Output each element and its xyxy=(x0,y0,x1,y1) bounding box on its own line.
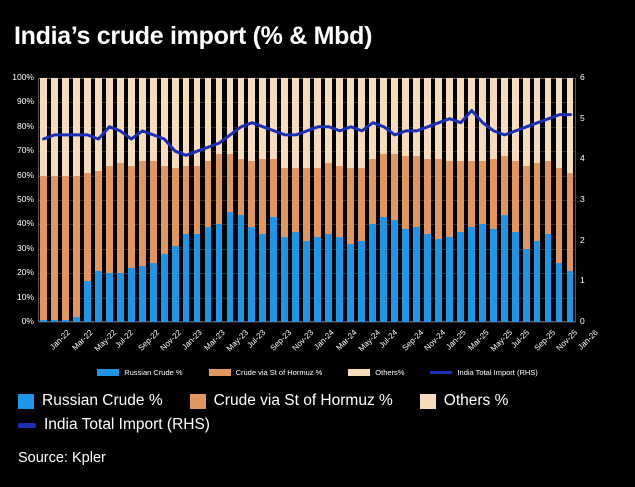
legend-label: India Total Import (RHS) xyxy=(44,416,210,434)
legend-item[interactable]: India Total Import (RHS) xyxy=(18,416,210,434)
x-tick-label: Nov-25 xyxy=(554,328,579,353)
y-tick-left: 40% xyxy=(0,219,34,228)
y-tick-right: 4 xyxy=(580,154,610,163)
inner-legend-label: India Total Import (RHS) xyxy=(457,368,537,377)
x-tick-label: Jan-23 xyxy=(180,328,204,352)
legend-swatch xyxy=(18,394,34,409)
y-tick-right: 5 xyxy=(580,114,610,123)
y-tick-left: 100% xyxy=(0,73,34,82)
x-tick-label: Jul-22 xyxy=(114,328,136,350)
y-tick-right: 6 xyxy=(580,73,610,82)
inner-legend-item[interactable]: Others% xyxy=(348,368,404,377)
x-tick-label: Sep-23 xyxy=(269,328,294,353)
legend-swatch xyxy=(348,369,370,376)
x-tick-label: May-25 xyxy=(488,328,513,353)
y-tick-left: 50% xyxy=(0,195,34,204)
x-tick-label: Sep-24 xyxy=(400,328,425,353)
x-tick-label: Mar-22 xyxy=(71,328,95,352)
y-tick-left: 70% xyxy=(0,146,34,155)
total-import-polyline xyxy=(44,111,571,156)
y-tick-right: 3 xyxy=(580,195,610,204)
x-tick-label: Mar-24 xyxy=(334,328,358,352)
inner-legend-label: Others% xyxy=(375,368,404,377)
chart-screenshot: India’s crude import (% & Mbd) 0%10%20%3… xyxy=(0,0,635,487)
inner-legend-label: Russian Crude % xyxy=(124,368,182,377)
x-tick-label: Nov-23 xyxy=(291,328,316,353)
plot-area xyxy=(38,78,576,322)
y-tick-right: 1 xyxy=(580,276,610,285)
x-tick-label: Nov-24 xyxy=(422,328,447,353)
inner-legend-item[interactable]: Crude via St of Hormuz % xyxy=(209,368,323,377)
x-tick-label: Nov-22 xyxy=(159,328,184,353)
x-tick-label: Jan-25 xyxy=(444,328,468,352)
x-tick-label: Jul-24 xyxy=(377,328,399,350)
inner-legend-item[interactable]: India Total Import (RHS) xyxy=(430,368,537,377)
legend-swatch xyxy=(420,394,436,409)
legend-item[interactable]: Russian Crude % xyxy=(18,392,163,410)
x-tick-label: Mar-25 xyxy=(466,328,490,352)
x-axis-labels: Jan-22Mar-22May-22Jul-22Sep-22Nov-22Jan-… xyxy=(38,324,576,374)
y-tick-left: 20% xyxy=(0,268,34,277)
chart-title: India’s crude import (% & Mbd) xyxy=(14,22,372,51)
legend-label: Others % xyxy=(444,392,509,410)
legend-label: Russian Crude % xyxy=(42,392,163,410)
chart-area: 0%10%20%30%40%50%60%70%80%90%100% 012345… xyxy=(0,72,635,330)
y-tick-right: 0 xyxy=(580,317,610,326)
y-tick-right: 2 xyxy=(580,236,610,245)
y-tick-left: 90% xyxy=(0,97,34,106)
x-tick-label: Jan-26 xyxy=(576,328,600,352)
y-tick-left: 60% xyxy=(0,171,34,180)
x-tick-label: Jan-24 xyxy=(312,328,336,352)
legend-label: Crude via St of Hormuz % xyxy=(214,392,393,410)
legend-swatch xyxy=(97,369,119,376)
legend-row-1: Russian Crude %Crude via St of Hormuz %O… xyxy=(18,392,618,410)
y-tick-left: 10% xyxy=(0,293,34,302)
inner-legend-label: Crude via St of Hormuz % xyxy=(236,368,323,377)
x-tick-label: May-24 xyxy=(357,328,382,353)
legend-item[interactable]: Crude via St of Hormuz % xyxy=(190,392,393,410)
y-tick-left: 0% xyxy=(0,317,34,326)
x-tick-label: Mar-23 xyxy=(203,328,227,352)
legend-line-marker xyxy=(18,423,36,428)
legend-line-marker xyxy=(430,371,452,374)
legend-item[interactable]: Others % xyxy=(420,392,509,410)
total-import-line-series xyxy=(38,78,576,322)
chart-outer-legend: Russian Crude %Crude via St of Hormuz %O… xyxy=(18,392,618,440)
chart-inner-legend: Russian Crude %Crude via St of Hormuz %O… xyxy=(0,368,635,377)
x-tick-label: Sep-25 xyxy=(532,328,557,353)
legend-row-2: India Total Import (RHS) xyxy=(18,416,618,434)
legend-swatch xyxy=(209,369,231,376)
x-tick-label: Jan-22 xyxy=(49,328,73,352)
legend-swatch xyxy=(190,394,206,409)
gridline xyxy=(38,322,576,323)
y-tick-left: 80% xyxy=(0,122,34,131)
y-tick-left: 30% xyxy=(0,244,34,253)
x-tick-label: Jul-23 xyxy=(245,328,267,350)
source-note: Source: Kpler xyxy=(18,450,106,466)
inner-legend-item[interactable]: Russian Crude % xyxy=(97,368,182,377)
x-tick-label: Sep-22 xyxy=(137,328,162,353)
